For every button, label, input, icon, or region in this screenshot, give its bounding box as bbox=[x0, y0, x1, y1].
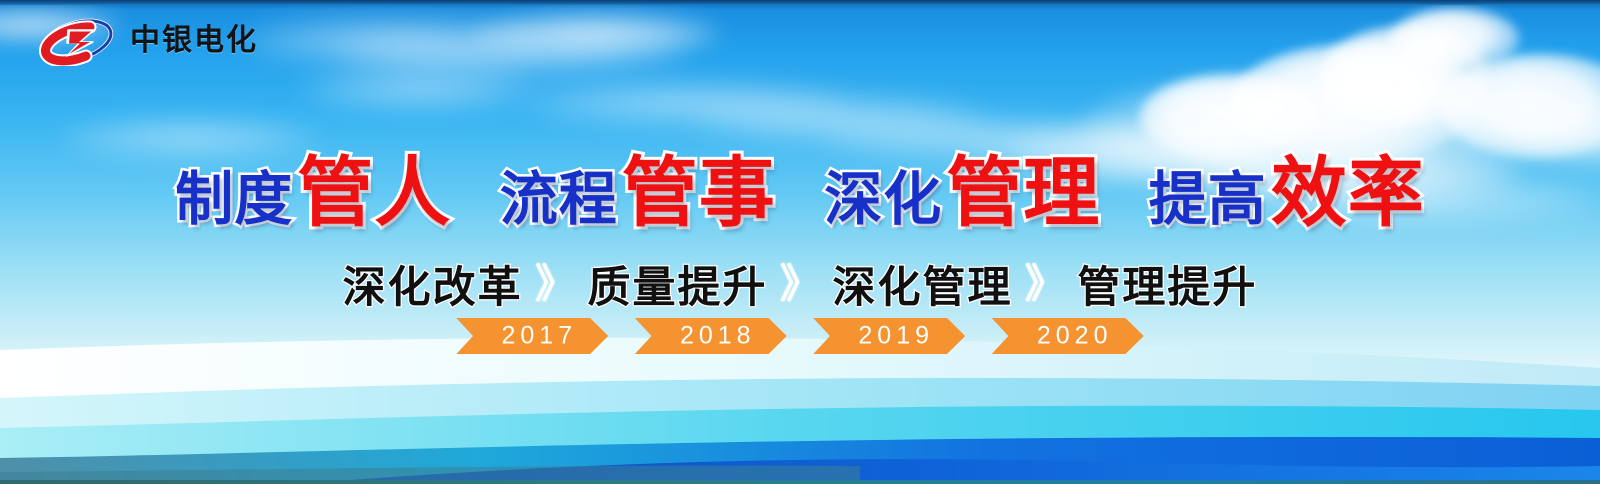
cloud-mid-left bbox=[300, 70, 540, 108]
year-badge-2017[interactable]: 2017 bbox=[456, 318, 608, 354]
cloud-mid-center bbox=[520, 82, 850, 124]
headline-2-red: 管事 bbox=[622, 155, 776, 231]
year-badge-2019[interactable]: 2019 bbox=[813, 318, 965, 354]
subtitle-row: 深化改革 》 质量提升 》 深化管理 》 管理提升 bbox=[0, 253, 1600, 315]
company-logo[interactable]: 中银电化 bbox=[38, 16, 258, 66]
headline-3-blue: 深化 bbox=[824, 170, 942, 228]
cloud-left-low bbox=[60, 120, 320, 156]
subtitle-item-4: 管理提升 bbox=[1077, 253, 1257, 315]
subtitle-item-2: 质量提升 bbox=[588, 253, 768, 315]
headline-1-blue: 制度 bbox=[175, 170, 293, 228]
headline-group-3: 深化管理 bbox=[824, 155, 1100, 231]
chevron-separator-icon-2: 》 bbox=[780, 264, 820, 304]
timeline-years: 2017 2018 2019 2020 bbox=[0, 318, 1600, 359]
cloud-center-small bbox=[470, 12, 720, 56]
cloud-mid-center-2 bbox=[690, 96, 990, 142]
headline-4-blue: 提高 bbox=[1149, 170, 1267, 228]
cloud-cumulus-small-top bbox=[1390, 8, 1520, 70]
top-edge-strip bbox=[0, 0, 1600, 5]
subtitle-item-3: 深化管理 bbox=[832, 253, 1012, 315]
cloud-cumulus-peak bbox=[1320, 26, 1490, 126]
chevron-separator-icon-1: 》 bbox=[535, 264, 575, 304]
cloud-wisp-left bbox=[240, 18, 540, 64]
headline-group-1: 制度管人 bbox=[175, 155, 451, 231]
headline-group-4: 提高效率 bbox=[1149, 155, 1425, 231]
company-name-text: 中银电化 bbox=[130, 26, 258, 56]
chevron-separator-icon-3: 》 bbox=[1025, 264, 1065, 304]
year-badge-2018[interactable]: 2018 bbox=[635, 318, 787, 354]
year-badge-2018-label: 2018 bbox=[635, 324, 787, 349]
headline-group-2: 流程管事 bbox=[500, 155, 776, 231]
year-badge-2020[interactable]: 2020 bbox=[992, 318, 1144, 354]
headline: 制度管人 流程管事 深化管理 提高效率 bbox=[0, 155, 1600, 231]
year-badge-2020-label: 2020 bbox=[992, 324, 1144, 349]
headline-4-red: 效率 bbox=[1271, 155, 1425, 231]
bottom-edge-strip bbox=[0, 480, 1600, 484]
subtitle-item-1: 深化改革 bbox=[343, 253, 523, 315]
year-badge-2019-label: 2019 bbox=[813, 324, 965, 349]
promotional-banner: 中银电化 制度管人 流程管事 深化管理 提高效率 深化改革 》 质量提升 》 深… bbox=[0, 0, 1600, 484]
year-badge-2017-label: 2017 bbox=[456, 324, 608, 349]
cloud-cumulus-main bbox=[1230, 44, 1480, 160]
headline-3-red: 管理 bbox=[946, 155, 1100, 231]
zhongyin-dianhua-swoosh-logo-icon bbox=[38, 16, 116, 66]
cloud-wisp-left-2 bbox=[330, 34, 690, 74]
headline-2-blue: 流程 bbox=[500, 170, 618, 228]
cloud-cumulus-right-lobe bbox=[1440, 54, 1600, 158]
headline-1-red: 管人 bbox=[297, 155, 451, 231]
